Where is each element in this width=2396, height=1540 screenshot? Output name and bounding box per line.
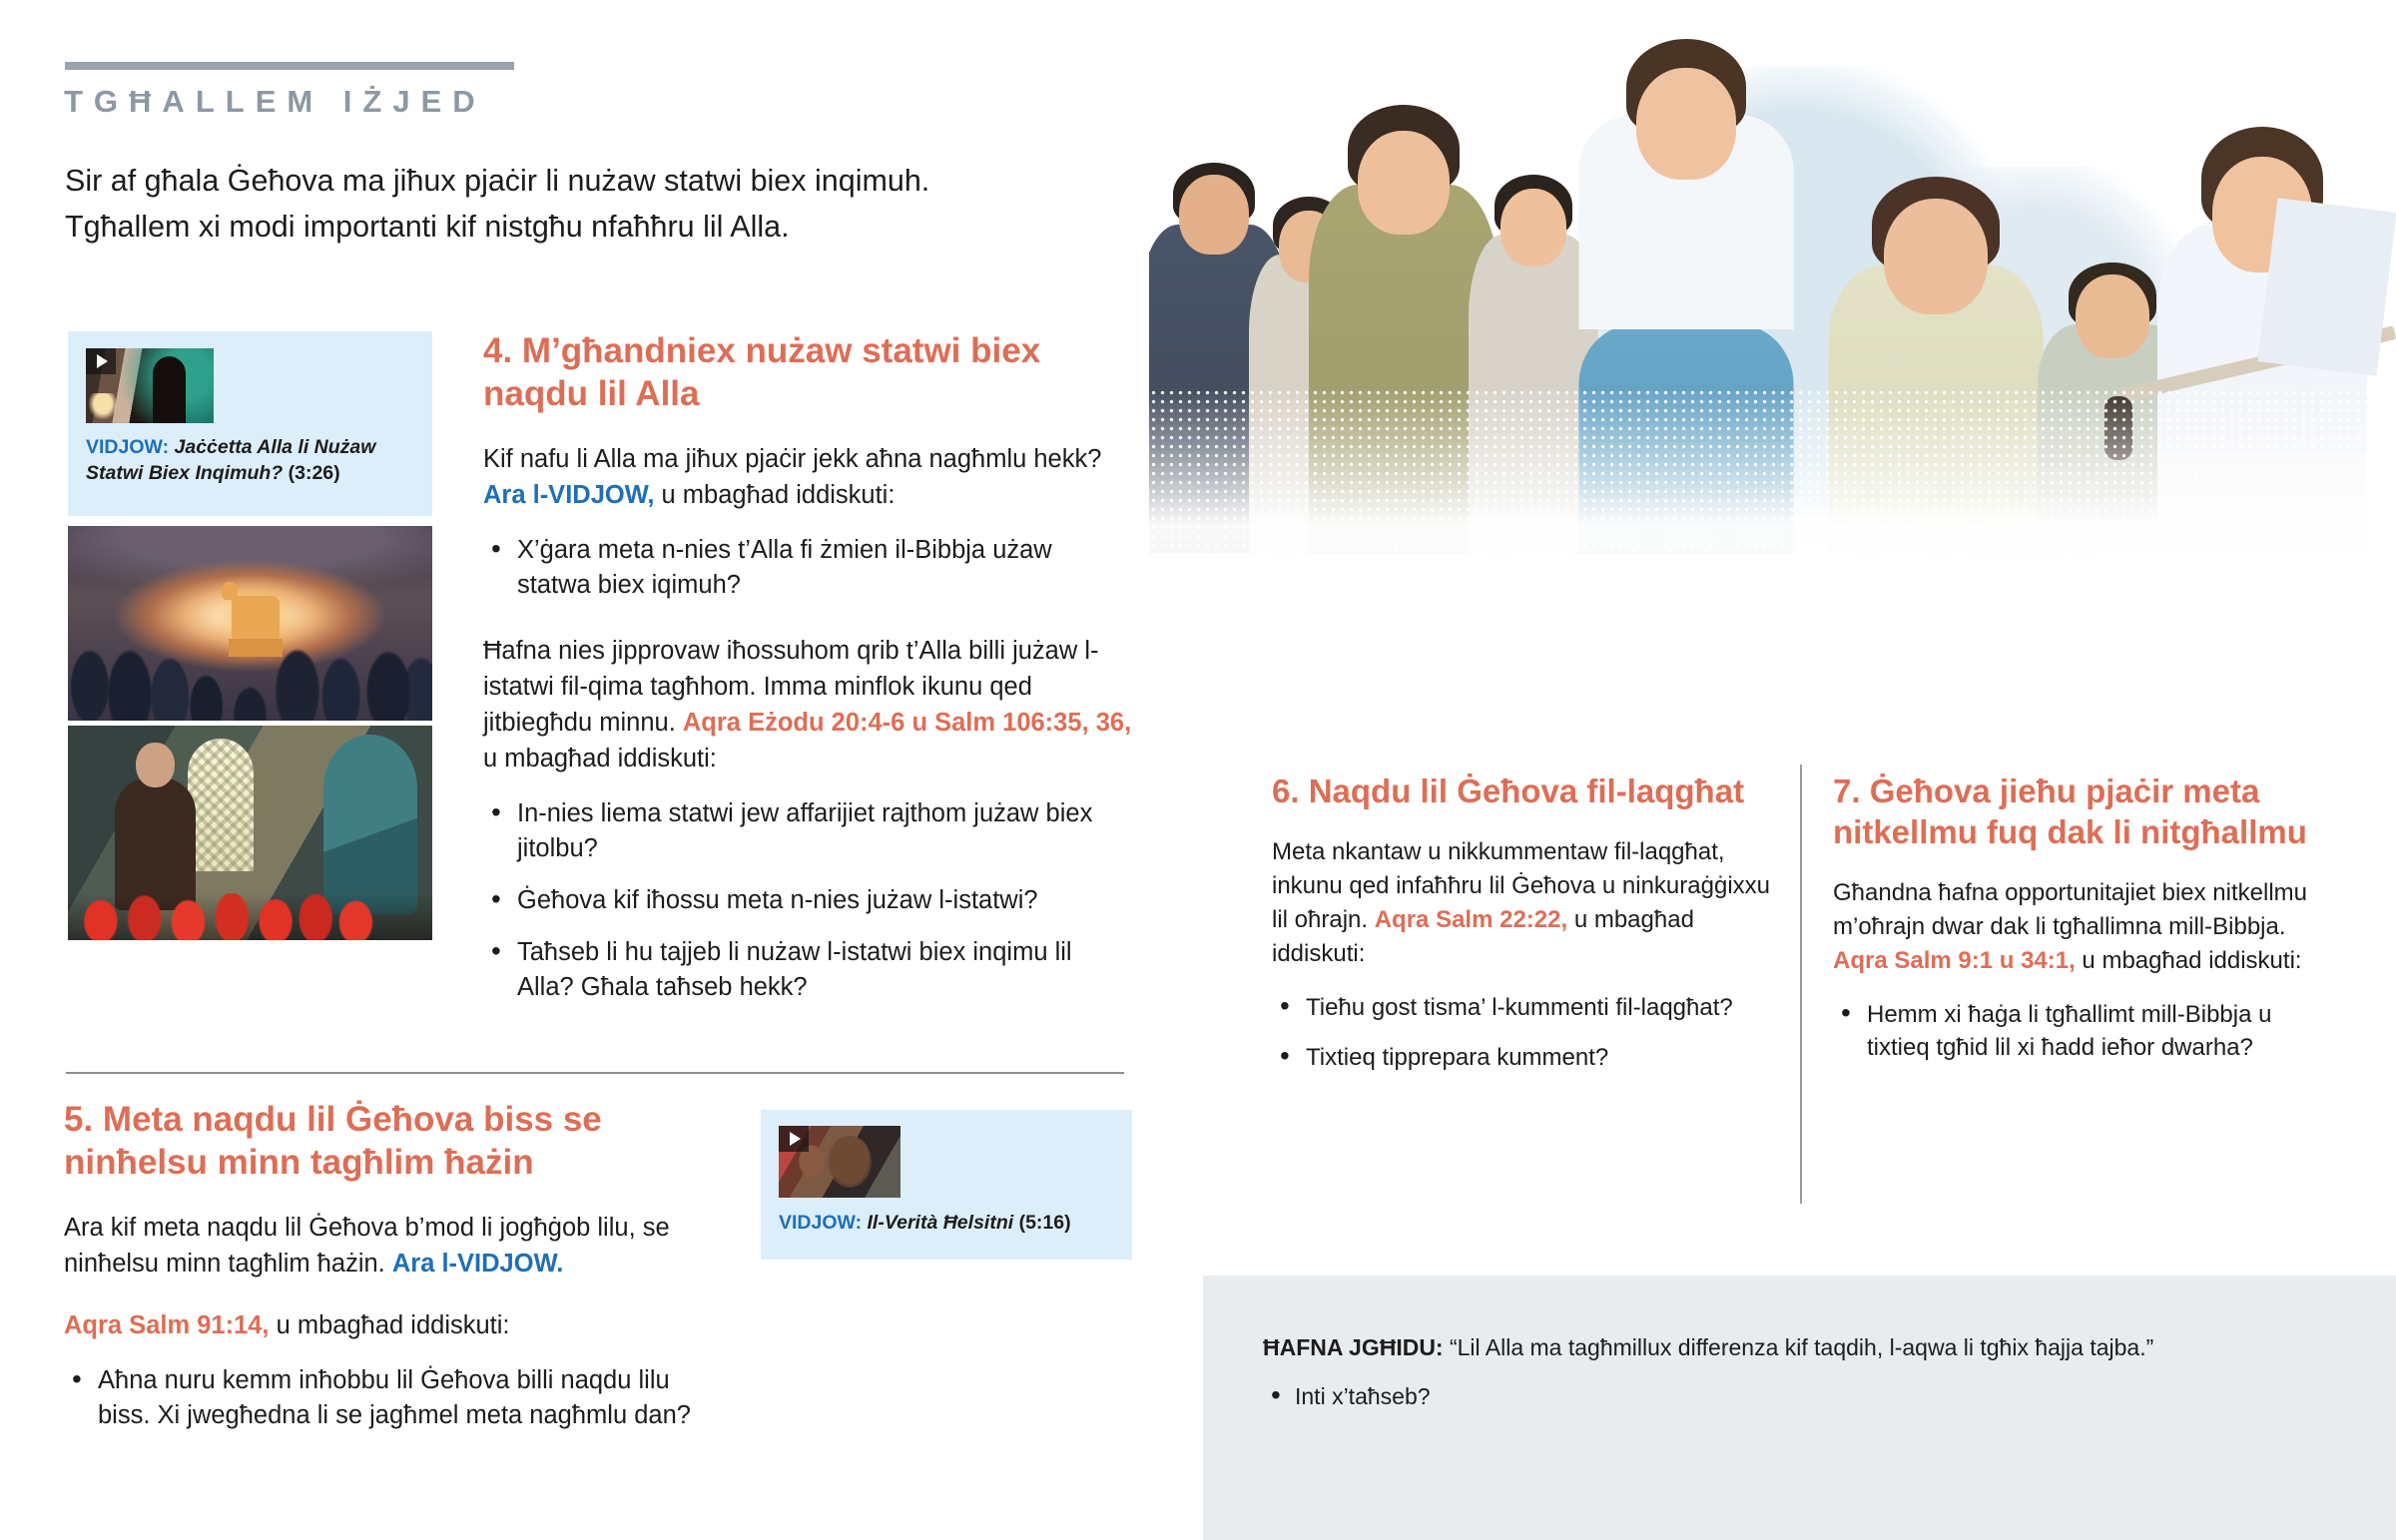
- praying-man: [115, 777, 195, 910]
- section-7-question-list: Hemm xi ħaġa li tgħallimt mill-Bibbja u …: [1833, 998, 2332, 1064]
- figure-elderly-woman-seated: [1828, 155, 2043, 554]
- golden-calf-worship-illustration: [68, 526, 432, 721]
- list-item: Tieħu gost tisma’ l-kummenti fil-laqgħat…: [1272, 991, 1771, 1024]
- quote-box: ĦAFNA JGĦIDU: “Lil Alla ma tagħmillux di…: [1203, 1276, 2396, 1540]
- section-5-question-list: Aħna nuru kemm inħobbu lil Ġeħova billi …: [64, 1363, 723, 1433]
- s7-p1-a: Għandna ħafna opportunitajiet biex nitke…: [1833, 879, 2307, 940]
- video-title: Il-Verità Ħelsitni: [868, 1212, 1014, 1234]
- section-4-heading: 4. M’għandniex nużaw statwi biex naqdu l…: [483, 329, 1132, 415]
- church-window: [188, 739, 254, 871]
- quote-line: ĦAFNA JGĦIDU: “Lil Alla ma tagħmillux di…: [1263, 1331, 2341, 1363]
- video-duration: (5:16): [1019, 1212, 1071, 1234]
- kicker-heading: TGĦALLEM IŻJED: [64, 84, 486, 120]
- video-card-verita[interactable]: VIDJOW: Il-Verità Ħelsitni (5:16): [761, 1110, 1132, 1260]
- figure-woman-white-blouse: [1578, 35, 1793, 554]
- section-6: 6. Naqdu lil Ġeħova fil-laqgħat Meta nka…: [1272, 770, 1771, 1091]
- s4-p2-b: u mbagħad iddiskuti:: [483, 745, 717, 772]
- section-7-heading: 7. Ġeħova jieħu pjaċir meta nitkellmu fu…: [1833, 770, 2332, 852]
- list-item: Taħseb li hu tajjeb li nużaw l-istatwi b…: [483, 935, 1132, 1005]
- play-icon[interactable]: [86, 348, 116, 374]
- s4-video-link[interactable]: Ara l-VIDJOW,: [483, 481, 654, 509]
- video-caption: VIDJOW: Jaċċetta Alla li Nużaw Statwi Bi…: [86, 434, 414, 486]
- microphone-icon: [2122, 388, 2396, 404]
- section-6-question-list: Tieħu gost tisma’ l-kummenti fil-laqgħat…: [1272, 991, 1771, 1074]
- s4-p1-b: u mbagħad iddiskuti:: [654, 481, 895, 509]
- s7-p1-b: u mbagħad iddiskuti:: [2076, 947, 2302, 974]
- section-5-heading: 5. Meta naqdu lil Ġeħova biss se ninħels…: [64, 1098, 723, 1184]
- calf-crowd: [68, 600, 432, 721]
- list-item: Tixtieq tipprepara kumment?: [1272, 1041, 1771, 1074]
- article-page: TGĦALLEM IŻJED Sir af għala Ġeħova ma ji…: [0, 0, 2396, 1540]
- list-item: Aħna nuru kemm inħobbu lil Ġeħova billi …: [64, 1363, 723, 1433]
- video-label: VIDJOW:: [779, 1212, 862, 1234]
- list-item: In-nies liema statwi jew affarijiet rajt…: [483, 796, 1132, 866]
- section-7: 7. Ġeħova jieħu pjaċir meta nitkellmu fu…: [1833, 770, 2332, 1081]
- s4-scripture-ref[interactable]: Aqra Eżodu 20:4-6 u Salm 106:35, 36,: [683, 709, 1131, 737]
- statue-figure: [323, 735, 418, 915]
- s4-p1-a: Kif nafu li Alla ma jiħux pjaċir jekk aħ…: [483, 445, 1101, 473]
- s7-scripture-ref[interactable]: Aqra Salm 9:1 u 34:1,: [1833, 947, 2076, 974]
- section-4-paragraph-2: Ħafna nies jipprovaw iħossuhom qrib t’Al…: [483, 633, 1132, 776]
- s5-p1-a: Ara kif meta naqdu lil Ġeħova b’mod li j…: [64, 1214, 670, 1278]
- quote-question-list: Inti x’taħseb?: [1263, 1381, 2396, 1412]
- quote-label: ĦAFNA JGĦIDU:: [1263, 1334, 1444, 1360]
- congregation-meeting-hero-illustration: [1149, 0, 2396, 554]
- section-4-question-list-1: X’ġara meta n-nies t’Alla fi żmien il-Bi…: [483, 533, 1132, 603]
- video-label: VIDJOW:: [86, 436, 169, 458]
- list-item: X’ġara meta n-nies t’Alla fi żmien il-Bi…: [483, 533, 1132, 603]
- intro-line-2: Tgħallem xi modi importanti kif nistgħu …: [65, 204, 993, 250]
- section-5-paragraph-1: Ara kif meta naqdu lil Ġeħova b’mod li j…: [64, 1210, 723, 1282]
- s5-scripture-ref[interactable]: Aqra Salm 91:14,: [64, 1311, 270, 1339]
- list-item: Hemm xi ħaġa li tgħallimt mill-Bibbja u …: [1833, 998, 2332, 1064]
- play-icon[interactable]: [779, 1126, 809, 1152]
- intro-line-1: Sir af għala Ġeħova ma jiħux pjaċir li n…: [65, 158, 993, 204]
- list-item: Inti x’taħseb?: [1263, 1381, 2396, 1412]
- section-5: 5. Meta naqdu lil Ġeħova biss se ninħels…: [64, 1098, 723, 1450]
- section-divider: [66, 1072, 1124, 1074]
- section-6-heading: 6. Naqdu lil Ġeħova fil-laqgħat: [1272, 770, 1771, 811]
- list-item: Ġeħova kif iħossu meta n-nies jużaw l-is…: [483, 883, 1132, 918]
- section-4-paragraph-1: Kif nafu li Alla ma jiħux pjaċir jekk aħ…: [483, 441, 1132, 513]
- section-4: 4. M’għandniex nużaw statwi biex naqdu l…: [483, 329, 1132, 1022]
- quote-text: “Lil Alla ma tagħmillux differenza kif t…: [1444, 1334, 2154, 1360]
- s5-p2-b: u mbagħad iddiskuti:: [270, 1311, 510, 1339]
- video-card-statwi[interactable]: VIDJOW: Jaċċetta Alla li Nużaw Statwi Bi…: [68, 331, 432, 516]
- video-duration: (3:26): [289, 462, 340, 484]
- man-praying-before-statue-illustration: [68, 726, 432, 940]
- section-6-paragraph-1: Meta nkantaw u nikkummentaw fil-laqgħat,…: [1272, 835, 1771, 971]
- votive-candles: [68, 893, 432, 940]
- column-divider: [1800, 765, 1802, 1204]
- paper-held: [2257, 198, 2396, 375]
- s5-video-link[interactable]: Ara l-VIDJOW.: [392, 1250, 563, 1278]
- kicker-rule: [65, 62, 514, 70]
- section-7-paragraph-1: Għandna ħafna opportunitajiet biex nitke…: [1833, 876, 2332, 978]
- video-thumbnail[interactable]: [86, 348, 214, 423]
- section-4-question-list-2: In-nies liema statwi jew affarijiet rajt…: [483, 796, 1132, 1005]
- intro-paragraph: Sir af għala Ġeħova ma jiħux pjaċir li n…: [65, 158, 993, 250]
- video-thumbnail[interactable]: [779, 1126, 900, 1198]
- section-5-paragraph-2: Aqra Salm 91:14, u mbagħad iddiskuti:: [64, 1307, 723, 1343]
- s6-scripture-ref[interactable]: Aqra Salm 22:22,: [1375, 906, 1567, 933]
- video-caption: VIDJOW: Il-Verità Ħelsitni (5:16): [779, 1210, 1114, 1236]
